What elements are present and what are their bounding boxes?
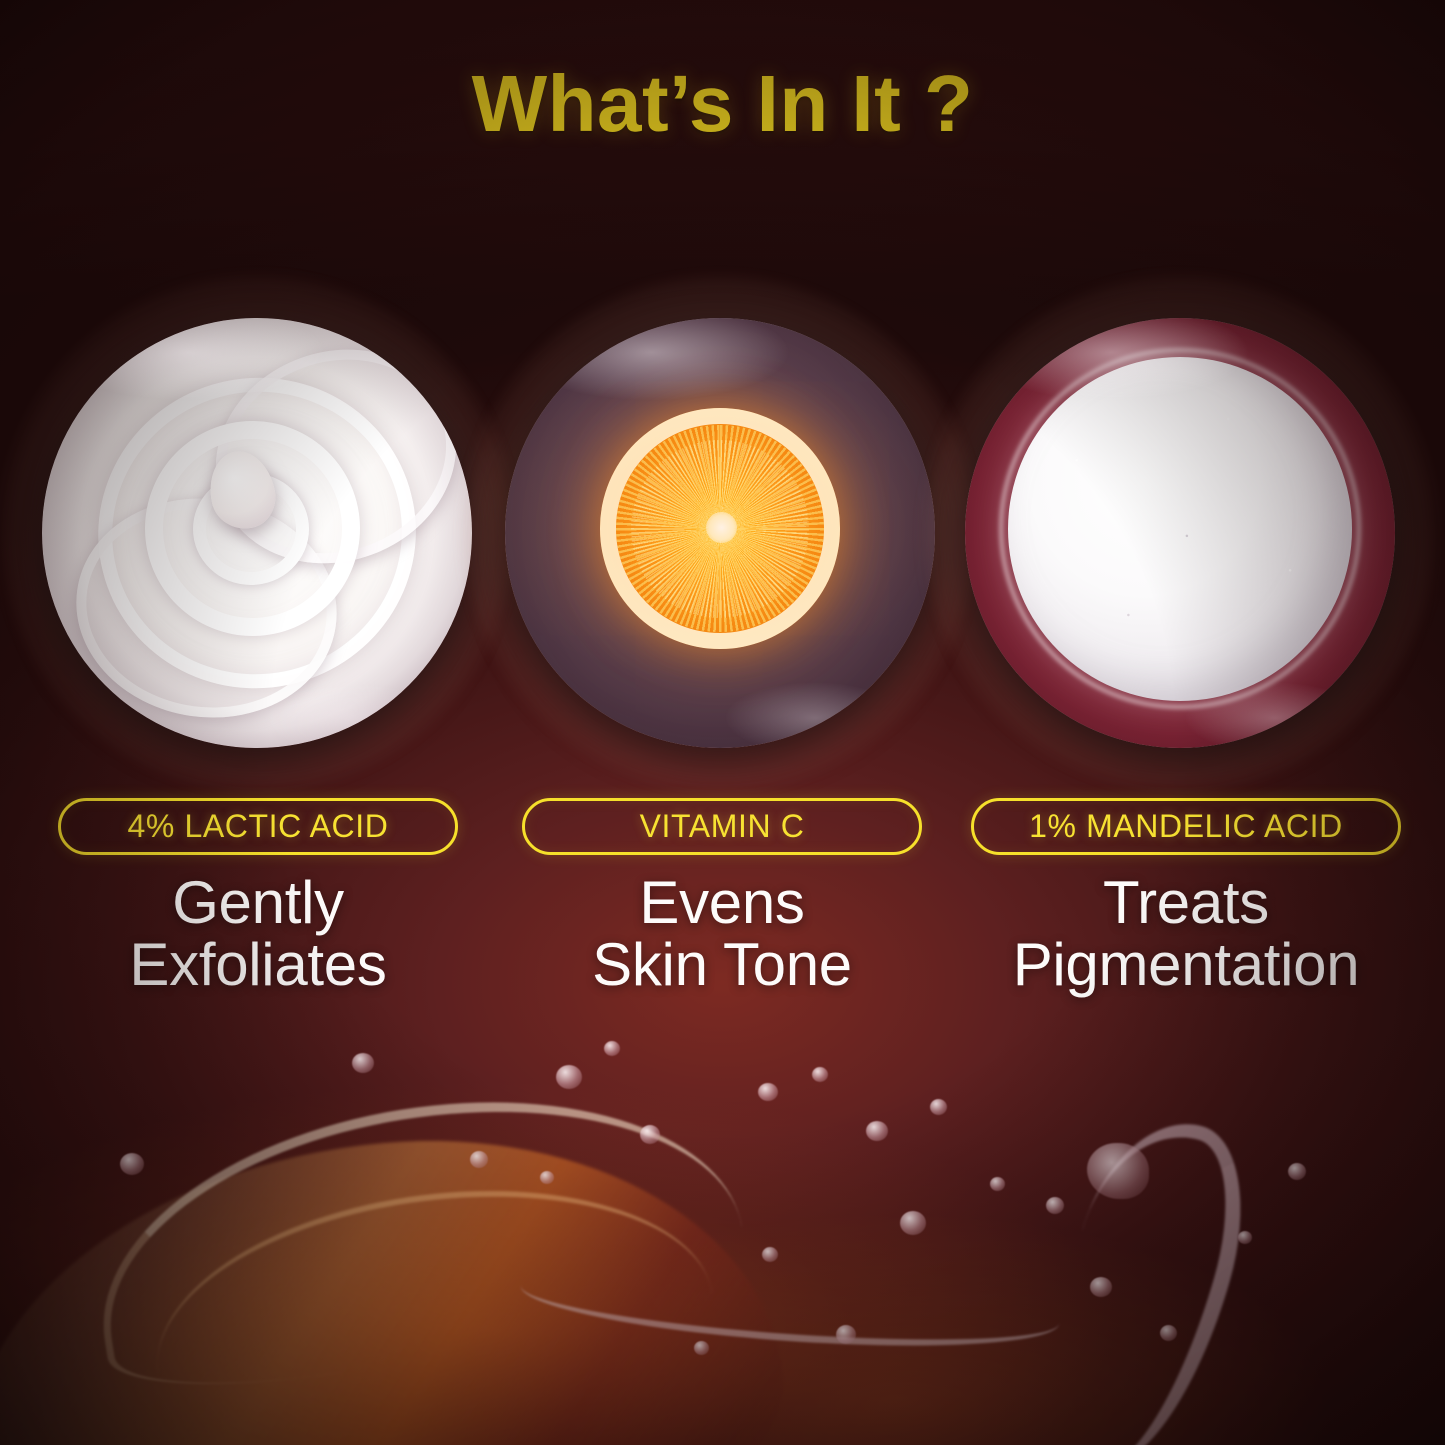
background-vignette: [0, 0, 1445, 1445]
ingredient-infographic: What’s In It ?: [0, 0, 1445, 1445]
